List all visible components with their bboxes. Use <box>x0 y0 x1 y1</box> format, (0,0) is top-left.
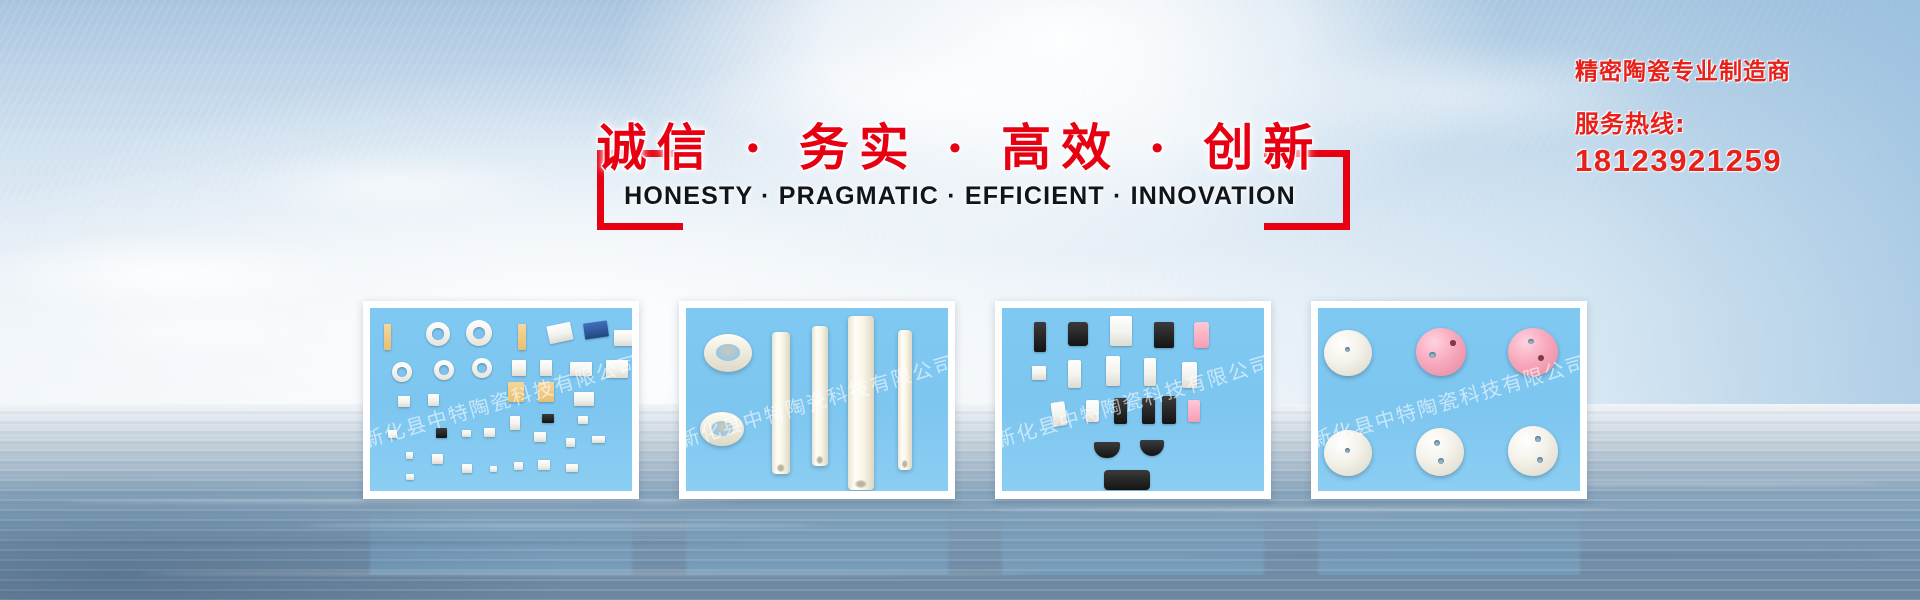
panel-image-area: 新化县中特陶瓷科技有限公司 <box>686 308 948 491</box>
product-panel-ceramic-tubes-and-rings[interactable]: 新化县中特陶瓷科技有限公司 <box>679 301 955 499</box>
panel-watermark: 新化县中特陶瓷科技有限公司 <box>1002 346 1264 453</box>
panel-reflection <box>679 503 955 575</box>
panel-reflection <box>363 503 639 575</box>
panel-reflection <box>995 503 1271 575</box>
product-panel-ceramic-discs[interactable]: 新化县中特陶瓷科技有限公司 <box>1311 301 1587 499</box>
product-panel-smd-ceramic-components[interactable]: 新化县中特陶瓷科技有限公司 <box>363 301 639 499</box>
panel-image-area: 新化县中特陶瓷科技有限公司 <box>1002 308 1264 491</box>
promo-banner: 诚信 · 务实 · 高效 · 创新 HONESTY · PRAGMATIC · … <box>0 0 1920 600</box>
panel-image-area: 新化县中特陶瓷科技有限公司 <box>1318 308 1580 491</box>
product-panel-row: 新化县中特陶瓷科技有限公司 新化县中特陶瓷科技有限公司 <box>0 0 1920 600</box>
panel-reflection <box>1311 503 1587 575</box>
panel-image-area: 新化县中特陶瓷科技有限公司 <box>370 308 632 491</box>
product-panel-ceramic-blocks-and-plates[interactable]: 新化县中特陶瓷科技有限公司 <box>995 301 1271 499</box>
